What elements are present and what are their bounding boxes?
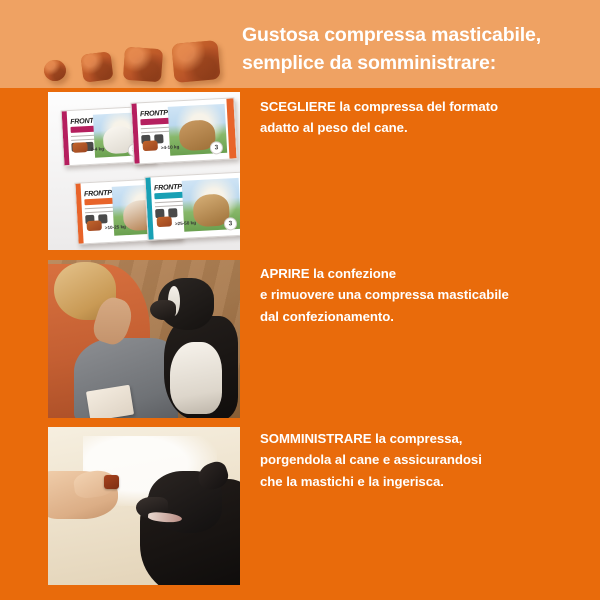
headline-line-2: semplice da somministrare: — [242, 50, 592, 78]
box-band — [75, 183, 83, 243]
blister-pack — [86, 385, 134, 418]
step-2-caption: APRIRE la confezione e rimuovere una com… — [260, 263, 595, 327]
product-box-4-10kg: FRONTPRO >4-10 kg 3 — [130, 97, 237, 164]
step-1-caption: SCEGLIERE la compressa del formato adatt… — [260, 96, 595, 139]
product-boxes-panel: FRONTPRO 2-4 kg 3 FRON — [48, 92, 240, 250]
headline: Gustosa compressa masticabile, semplice … — [242, 22, 592, 77]
woman-dog-panel — [48, 260, 240, 418]
tablet-size-row — [40, 26, 210, 81]
step-3-line-1: SOMMINISTRARE la compressa, — [260, 428, 595, 449]
box-band — [145, 177, 153, 239]
chewable-tablet — [104, 475, 119, 489]
step-2-lead: APRIRE — [260, 266, 310, 281]
tablet-large-icon — [171, 40, 220, 83]
headline-line-1: Gustosa compressa masticabile, — [242, 24, 541, 46]
promotional-infographic: Gustosa compressa masticabile, semplice … — [0, 0, 600, 600]
box-weight-range: >4-10 kg — [161, 144, 180, 150]
step-scegliere: FRONTPRO 2-4 kg 3 FRON — [0, 92, 600, 260]
step-1-rest: la compressa del formato — [336, 99, 498, 114]
product-box-25-50kg: FRONTPRO >25-50 kg 3 — [144, 171, 240, 240]
step-somministrare: SOMMINISTRARE la compressa, porgendola a… — [0, 427, 600, 596]
box-tablet-icon — [72, 142, 88, 153]
step-2-line-3: dal confezionamento. — [260, 306, 595, 327]
box-tablet-icon — [86, 220, 102, 231]
step-3-line-3: che la mastichi e la ingerisca. — [260, 471, 595, 492]
hand-dog-panel — [48, 427, 240, 585]
step-3-lead: SOMMINISTRARE — [260, 431, 371, 446]
box-weight-range: 2-4 kg — [91, 146, 105, 152]
tablet-small-icon — [80, 51, 113, 82]
step-3-rest: la compressa, — [371, 431, 462, 446]
step-2-line-1: APRIRE la confezione — [260, 263, 595, 284]
step-3-line-2: porgendola al cane e assicurandosi — [260, 449, 595, 470]
dog-muzzle — [150, 300, 176, 320]
step-2-rest: la confezione — [310, 266, 397, 281]
step-2-line-2: e rimuovere una compressa masticabile — [260, 284, 595, 305]
border-collie — [138, 270, 238, 418]
frontpro-product-boxes-image: FRONTPRO 2-4 kg 3 FRON — [48, 92, 240, 250]
tablet-xsmall-icon — [44, 60, 66, 81]
header-band: Gustosa compressa masticabile, semplice … — [0, 0, 600, 88]
box-tablet-icon — [142, 140, 158, 151]
step-1-lead: SCEGLIERE — [260, 99, 336, 114]
box-right-band — [226, 98, 236, 158]
box-band — [131, 103, 139, 163]
woman-offering-tablet-image — [48, 260, 240, 418]
tablet-medium-icon — [123, 47, 163, 83]
steps-container: FRONTPRO 2-4 kg 3 FRON — [0, 88, 600, 600]
dog-chest — [170, 342, 222, 414]
step-1-line-1: SCEGLIERE la compressa del formato — [260, 96, 595, 117]
box-tablet-icon — [157, 216, 173, 227]
step-aprire: APRIRE la confezione e rimuovere una com… — [0, 260, 600, 427]
hand-giving-tablet-image — [48, 427, 240, 585]
dog — [126, 457, 240, 585]
step-1-line-2: adatto al peso del cane. — [260, 117, 595, 138]
step-3-caption: SOMMINISTRARE la compressa, porgendola a… — [260, 428, 595, 492]
box-band — [62, 111, 70, 165]
